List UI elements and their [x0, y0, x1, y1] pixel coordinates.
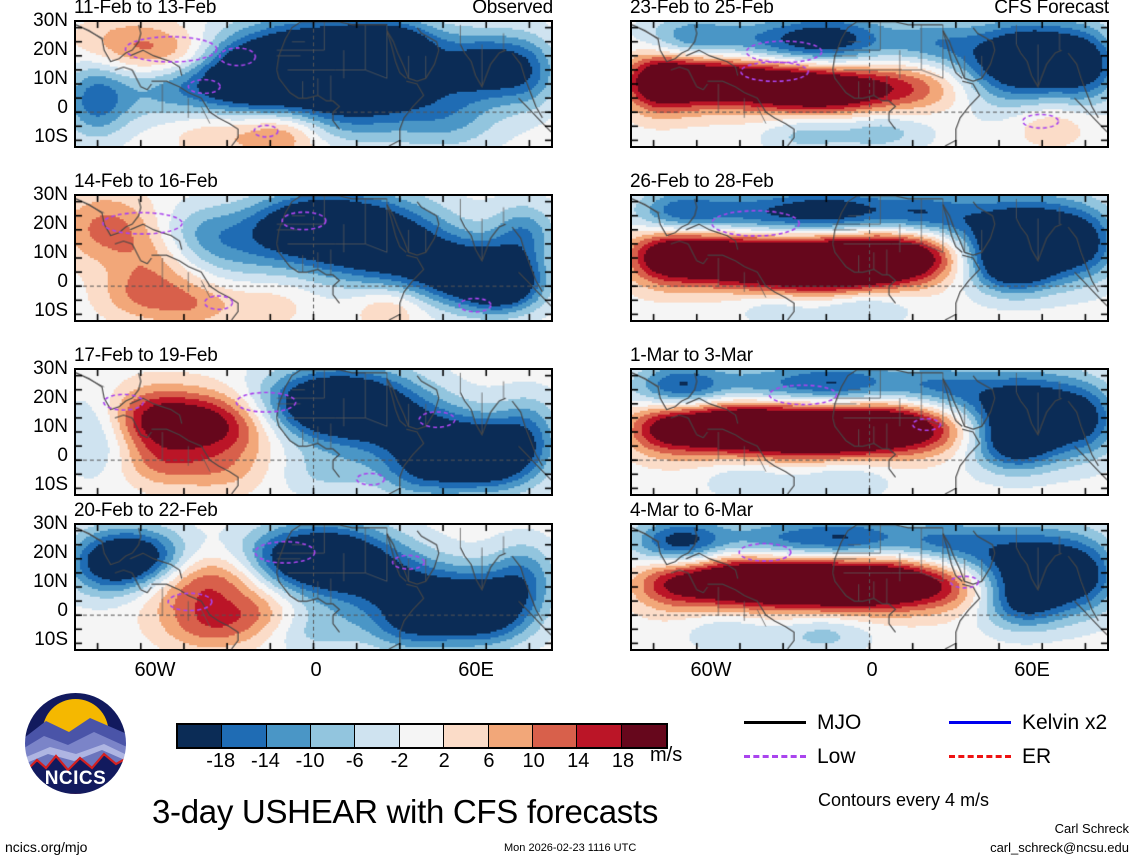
figure-main-title: 3-day USHEAR with CFS forecasts [152, 795, 658, 828]
y-tick-10s: 10S [34, 301, 68, 320]
legend-item-mjo[interactable]: MJO [744, 712, 861, 733]
colorbar-tick: 6 [483, 751, 494, 771]
map-box [630, 523, 1109, 651]
author-email[interactable]: carl_schreck@ncsu.edu [990, 841, 1129, 854]
map-box [74, 523, 553, 651]
map-field [632, 370, 1107, 494]
y-axis-row-2: 30N 20N 10N 0 10S [0, 194, 68, 322]
colorbar-tick: -18 [206, 751, 235, 771]
y-tick-20n: 20N [33, 388, 68, 407]
colorbar-segment [222, 725, 266, 747]
colorbar-tick: 2 [439, 751, 450, 771]
y-tick-30n: 30N [33, 185, 68, 204]
map-field [76, 370, 551, 494]
panel-fcst-3[interactable]: 1-Mar to 3-Mar [630, 368, 1109, 496]
y-tick-10s: 10S [34, 630, 68, 649]
x-tick-60e: 60E [458, 660, 494, 680]
colorbar-tick: -6 [346, 751, 364, 771]
y-tick-30n: 30N [33, 514, 68, 533]
panel-fcst-2[interactable]: 26-Feb to 28-Feb [630, 194, 1109, 322]
figure-root: 30N 20N 10N 0 10S 30N 20N 10N 0 10S 30N … [0, 0, 1135, 860]
y-tick-20n: 20N [33, 214, 68, 233]
panel-title: 20-Feb to 22-Feb [74, 501, 218, 520]
colorbar-segment [178, 725, 222, 747]
colorbar-tick: -10 [296, 751, 325, 771]
panel-obs-1[interactable]: 11-Feb to 13-Feb Observed [74, 20, 553, 148]
legend-label: ER [1022, 746, 1051, 767]
map-field [76, 525, 551, 649]
colorbar-tick: -14 [251, 751, 280, 771]
panel-title: 1-Mar to 3-Mar [630, 346, 753, 365]
y-tick-10s: 10S [34, 475, 68, 494]
legend-item-kelvin[interactable]: Kelvin x2 [949, 712, 1107, 733]
colorbar-segment [400, 725, 444, 747]
x-tick-60w: 60W [690, 660, 731, 680]
legend-label: Low [817, 746, 856, 767]
y-tick-30n: 30N [33, 11, 68, 30]
y-tick-10n: 10N [33, 243, 68, 262]
site-url[interactable]: ncics.org/mjo [5, 840, 87, 854]
panel-title: 14-Feb to 16-Feb [74, 172, 218, 191]
x-tick-60w: 60W [134, 660, 175, 680]
contour-interval-note: Contours every 4 m/s [818, 791, 989, 809]
panel-title: 26-Feb to 28-Feb [630, 172, 774, 191]
column-header-forecast: CFS Forecast [994, 0, 1109, 17]
y-tick-0: 0 [57, 446, 68, 465]
y-tick-10s: 10S [34, 127, 68, 146]
y-tick-10n: 10N [33, 417, 68, 436]
panel-fcst-1[interactable]: 23-Feb to 25-Feb CFS Forecast [630, 20, 1109, 148]
panel-title: 17-Feb to 19-Feb [74, 346, 218, 365]
map-box [74, 194, 553, 322]
y-tick-0: 0 [57, 272, 68, 291]
panel-title: 23-Feb to 25-Feb [630, 0, 774, 17]
legend-item-er[interactable]: ER [949, 746, 1051, 767]
colorbar-segment [444, 725, 488, 747]
map-box [74, 368, 553, 496]
y-tick-30n: 30N [33, 359, 68, 378]
map-field [632, 22, 1107, 146]
render-timestamp: Mon 2026-02-23 1116 UTC [504, 843, 636, 854]
y-tick-10n: 10N [33, 572, 68, 591]
y-axis-row-3: 30N 20N 10N 0 10S [0, 368, 68, 496]
legend-label: Kelvin x2 [1022, 712, 1107, 733]
panel-title: 11-Feb to 13-Feb [74, 0, 216, 17]
column-header-observed: Observed [472, 0, 553, 17]
y-axis-row-1: 30N 20N 10N 0 10S [0, 20, 68, 148]
y-tick-20n: 20N [33, 543, 68, 562]
colorbar-tick: -2 [391, 751, 409, 771]
panel-title: 4-Mar to 6-Mar [630, 501, 753, 520]
map-box [74, 20, 553, 148]
map-field [76, 22, 551, 146]
colorbar-segment [489, 725, 533, 747]
colorbar-segment [577, 725, 621, 747]
y-tick-20n: 20N [33, 40, 68, 59]
map-field [76, 196, 551, 320]
low-line-icon [744, 755, 806, 758]
y-axis-row-4: 30N 20N 10N 0 10S [0, 523, 68, 651]
panel-obs-4[interactable]: 20-Feb to 22-Feb [74, 523, 553, 651]
panel-obs-2[interactable]: 14-Feb to 16-Feb [74, 194, 553, 322]
colorbar[interactable] [176, 723, 668, 749]
kelvin-line-icon [949, 721, 1011, 724]
ncics-logo: NCICS [24, 692, 127, 795]
colorbar-segment [267, 725, 311, 747]
panel-fcst-4[interactable]: 4-Mar to 6-Mar [630, 523, 1109, 651]
colorbar-segment [533, 725, 577, 747]
colorbar-tick: 18 [612, 751, 634, 771]
x-tick-60e: 60E [1014, 660, 1050, 680]
map-field [632, 525, 1107, 649]
y-tick-0: 0 [57, 98, 68, 117]
contour-legend: MJO Kelvin x2 Low ER [744, 712, 1104, 774]
colorbar-units-label: m/s [650, 745, 682, 765]
legend-label: MJO [817, 712, 861, 733]
legend-item-low[interactable]: Low [744, 746, 856, 767]
y-tick-10n: 10N [33, 69, 68, 88]
map-field [632, 196, 1107, 320]
svg-text:NCICS: NCICS [45, 768, 107, 789]
author-name: Carl Schreck [1055, 822, 1129, 835]
x-tick-0: 0 [310, 660, 321, 680]
er-line-icon [949, 755, 1011, 758]
ncics-logo-icon: NCICS [24, 692, 127, 795]
map-box [630, 368, 1109, 496]
mjo-line-icon [744, 721, 806, 724]
map-box [630, 20, 1109, 148]
colorbar-tick: 10 [522, 751, 544, 771]
colorbar-tick: 14 [567, 751, 589, 771]
map-box [630, 194, 1109, 322]
colorbar-segment [355, 725, 399, 747]
x-tick-0: 0 [866, 660, 877, 680]
y-tick-0: 0 [57, 601, 68, 620]
colorbar-segment [311, 725, 355, 747]
panel-obs-3[interactable]: 17-Feb to 19-Feb [74, 368, 553, 496]
